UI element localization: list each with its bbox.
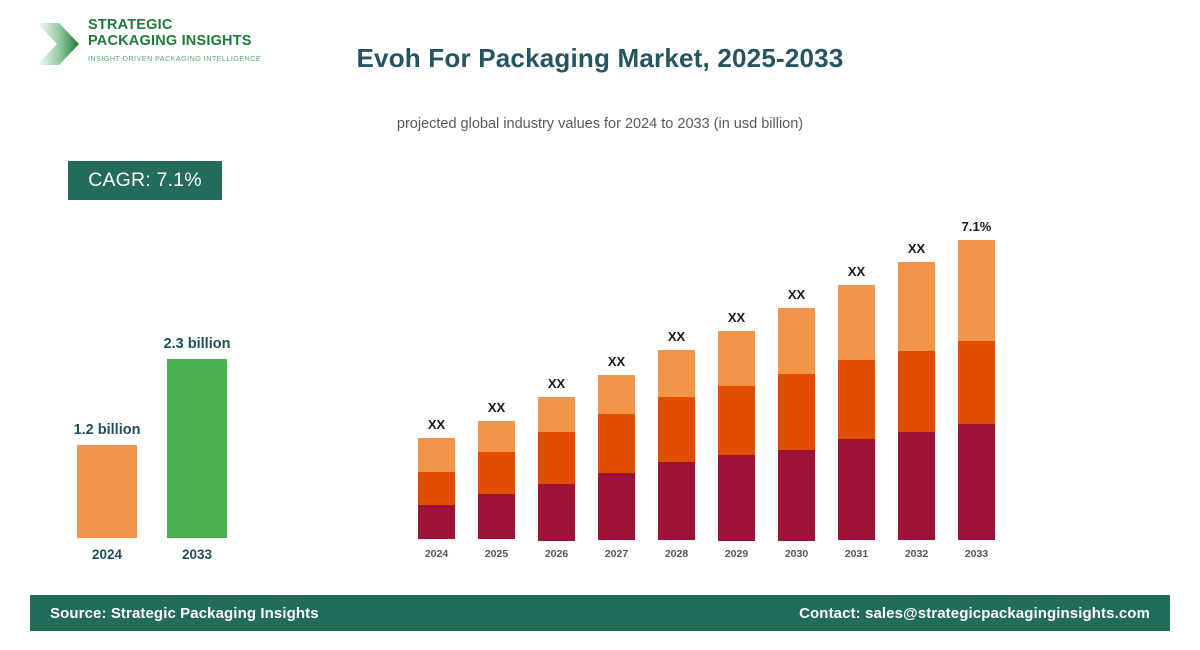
stacked-bar-2029 xyxy=(718,331,755,540)
stack-segment-segment-middle-2025 xyxy=(478,452,515,494)
stack-segment-segment-middle-2031 xyxy=(838,360,875,439)
stack-segment-segment-bottom-2029 xyxy=(718,455,755,541)
stacked-top-label-2029: XX xyxy=(707,310,767,325)
stack-segment-segment-middle-2032 xyxy=(898,351,935,432)
stacked-year-label-2027: 2027 xyxy=(592,548,642,560)
stacked-bar-2033 xyxy=(958,240,995,540)
stacked-column-2024: XX2024 xyxy=(418,215,455,560)
cagr-badge: CAGR: 7.1% xyxy=(68,161,222,200)
stacked-bar-2031 xyxy=(838,285,875,540)
stacked-year-label-2026: 2026 xyxy=(532,548,582,560)
stacked-column-2032: XX2032 xyxy=(898,215,935,560)
stack-segment-segment-bottom-2027 xyxy=(598,473,635,540)
stacked-top-label-2031: XX xyxy=(827,264,887,279)
stack-segment-segment-top-2032 xyxy=(898,262,935,351)
comparison-column: 2.3 billion xyxy=(167,359,227,538)
stacked-top-label-2030: XX xyxy=(767,287,827,302)
stacked-column-2029: XX2029 xyxy=(718,215,755,560)
stacked-bar-2024 xyxy=(418,438,455,540)
stack-segment-segment-bottom-2028 xyxy=(658,462,695,540)
stacked-year-label-2028: 2028 xyxy=(652,548,702,560)
stacked-year-label-2031: 2031 xyxy=(832,548,882,560)
stack-segment-segment-top-2028 xyxy=(658,350,695,397)
stack-segment-segment-top-2031 xyxy=(838,285,875,360)
comparison-value-label-2033: 2.3 billion xyxy=(117,336,277,352)
stack-segment-segment-bottom-2025 xyxy=(478,494,515,539)
footer-bar: Source: Strategic Packaging Insights Con… xyxy=(30,595,1170,631)
comparison-bar-2033 xyxy=(167,359,227,538)
stack-segment-segment-top-2024 xyxy=(418,438,455,472)
comparison-value-label-2024: 1.2 billion xyxy=(27,422,187,438)
footer-source: Source: Strategic Packaging Insights xyxy=(50,605,319,622)
stacked-column-2031: XX2031 xyxy=(838,215,875,560)
stack-segment-segment-middle-2029 xyxy=(718,386,755,455)
comparison-column: 1.2 billion xyxy=(77,445,137,538)
stack-segment-segment-bottom-2024 xyxy=(418,505,455,539)
stacked-column-2026: XX2026 xyxy=(538,215,575,560)
page-subtitle: projected global industry values for 202… xyxy=(0,116,1200,132)
stacked-year-label-2029: 2029 xyxy=(712,548,762,560)
endpoint-comparison-chart: 1.2 billion20242.3 billion2033 xyxy=(55,300,275,570)
stacked-year-label-2033: 2033 xyxy=(952,548,1002,560)
stack-segment-segment-middle-2024 xyxy=(418,472,455,505)
stacked-top-label-2026: XX xyxy=(527,376,587,391)
stacked-bar-2032 xyxy=(898,262,935,540)
stack-segment-segment-middle-2027 xyxy=(598,414,635,473)
stack-segment-segment-bottom-2033 xyxy=(958,424,995,540)
stacked-bar-2025 xyxy=(478,421,515,540)
stack-segment-segment-bottom-2031 xyxy=(838,439,875,540)
stacked-top-label-2032: XX xyxy=(887,241,947,256)
stack-segment-segment-bottom-2032 xyxy=(898,432,935,540)
comparison-year-label-2024: 2024 xyxy=(77,547,137,562)
stack-segment-segment-top-2033 xyxy=(958,240,995,341)
comparison-bar-2024 xyxy=(77,445,137,538)
stack-segment-segment-middle-2026 xyxy=(538,432,575,484)
stacked-year-label-2030: 2030 xyxy=(772,548,822,560)
stacked-column-2028: XX2028 xyxy=(658,215,695,560)
stacked-top-label-2025: XX xyxy=(467,400,527,415)
stacked-top-label-2033: 7.1% xyxy=(947,219,1007,234)
stacked-forecast-chart: XX2024XX2025XX2026XX2027XX2028XX2029XX20… xyxy=(408,195,1008,560)
stacked-bar-2027 xyxy=(598,375,635,540)
stack-segment-segment-top-2025 xyxy=(478,421,515,452)
stacked-column-2025: XX2025 xyxy=(478,215,515,560)
stacked-top-label-2028: XX xyxy=(647,329,707,344)
stack-segment-segment-bottom-2030 xyxy=(778,450,815,541)
stack-segment-segment-middle-2033 xyxy=(958,341,995,424)
stacked-top-label-2027: XX xyxy=(587,354,647,369)
page-title: Evoh For Packaging Market, 2025-2033 xyxy=(0,43,1200,74)
footer-contact: Contact: sales@strategicpackaginginsight… xyxy=(799,605,1150,622)
stacked-year-label-2024: 2024 xyxy=(412,548,462,560)
stack-segment-segment-top-2029 xyxy=(718,331,755,386)
stack-segment-segment-top-2026 xyxy=(538,397,575,432)
stack-segment-segment-top-2027 xyxy=(598,375,635,414)
stack-segment-segment-bottom-2026 xyxy=(538,484,575,541)
stack-segment-segment-middle-2030 xyxy=(778,374,815,450)
stacked-column-2030: XX2030 xyxy=(778,215,815,560)
stacked-column-2033: 7.1%2033 xyxy=(958,215,995,560)
stacked-year-label-2032: 2032 xyxy=(892,548,942,560)
stack-segment-segment-top-2030 xyxy=(778,308,815,374)
stacked-bar-2028 xyxy=(658,350,695,540)
comparison-year-label-2033: 2033 xyxy=(167,547,227,562)
logo-line-1: STRATEGIC xyxy=(88,18,261,34)
stacked-bar-2030 xyxy=(778,308,815,540)
stacked-year-label-2025: 2025 xyxy=(472,548,522,560)
stacked-top-label-2024: XX xyxy=(407,417,467,432)
stack-segment-segment-middle-2028 xyxy=(658,397,695,462)
stacked-bar-2026 xyxy=(538,397,575,540)
cagr-badge-label: CAGR: 7.1% xyxy=(88,169,202,192)
stacked-column-2027: XX2027 xyxy=(598,215,635,560)
